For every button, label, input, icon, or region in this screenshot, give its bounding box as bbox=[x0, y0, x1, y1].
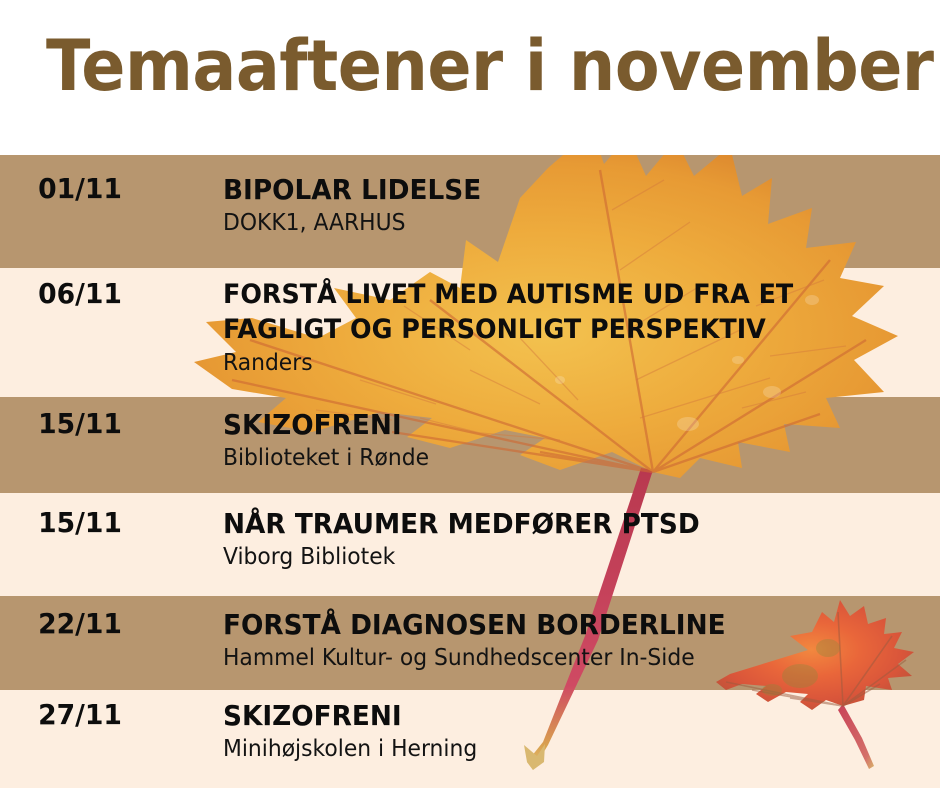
event-details: NÅR TRAUMER MEDFØRER PTSD Viborg Bibliot… bbox=[160, 506, 940, 572]
schedule-row-5[interactable]: 22/11 FORSTÅ DIAGNOSEN BORDERLINE Hammel… bbox=[0, 607, 940, 673]
event-date: 15/11 bbox=[4, 506, 156, 540]
event-venue: Viborg Bibliotek bbox=[223, 542, 904, 572]
event-title: SKIZOFRENI bbox=[223, 698, 897, 733]
event-title: NÅR TRAUMER MEDFØRER PTSD bbox=[223, 506, 897, 541]
poster-header: Temaaftener i november bbox=[0, 0, 940, 155]
event-venue: Minihøjskolen i Herning bbox=[223, 734, 904, 764]
event-venue: DOKK1, AARHUS bbox=[223, 208, 904, 238]
page-title: Temaaftener i november bbox=[46, 24, 846, 108]
event-details: FORSTÅ DIAGNOSEN BORDERLINE Hammel Kultu… bbox=[160, 607, 940, 673]
event-date: 15/11 bbox=[4, 407, 156, 441]
event-details: BIPOLAR LIDELSE DOKK1, AARHUS bbox=[160, 172, 940, 238]
schedule-row-6[interactable]: 27/11 SKIZOFRENI Minihøjskolen i Herning bbox=[0, 698, 940, 764]
event-details: FORSTÅ LIVET MED AUTISME UD FRA ET FAGLI… bbox=[160, 277, 940, 378]
schedule-row-3[interactable]: 15/11 SKIZOFRENI Biblioteket i Rønde bbox=[0, 407, 940, 473]
event-date: 22/11 bbox=[4, 607, 156, 641]
schedule-row-4[interactable]: 15/11 NÅR TRAUMER MEDFØRER PTSD Viborg B… bbox=[0, 506, 940, 572]
event-date: 06/11 bbox=[4, 277, 156, 311]
event-venue: Hammel Kultur- og Sundhedscenter In-Side bbox=[223, 643, 904, 673]
event-venue: Randers bbox=[223, 348, 904, 378]
event-title: FORSTÅ LIVET MED AUTISME UD FRA ET FAGLI… bbox=[223, 277, 897, 347]
event-details: SKIZOFRENI Biblioteket i Rønde bbox=[160, 407, 940, 473]
poster: Temaaftener i november 01/11 BIPOLAR LID… bbox=[0, 0, 940, 788]
event-details: SKIZOFRENI Minihøjskolen i Herning bbox=[160, 698, 940, 764]
event-title: FORSTÅ DIAGNOSEN BORDERLINE bbox=[223, 607, 897, 642]
event-title: SKIZOFRENI bbox=[223, 407, 897, 442]
event-date: 01/11 bbox=[4, 172, 156, 206]
schedule-row-1[interactable]: 01/11 BIPOLAR LIDELSE DOKK1, AARHUS bbox=[0, 172, 940, 238]
event-date: 27/11 bbox=[4, 698, 156, 732]
schedule-row-2[interactable]: 06/11 FORSTÅ LIVET MED AUTISME UD FRA ET… bbox=[0, 277, 940, 378]
event-venue: Biblioteket i Rønde bbox=[223, 443, 904, 473]
event-title: BIPOLAR LIDELSE bbox=[223, 172, 897, 207]
